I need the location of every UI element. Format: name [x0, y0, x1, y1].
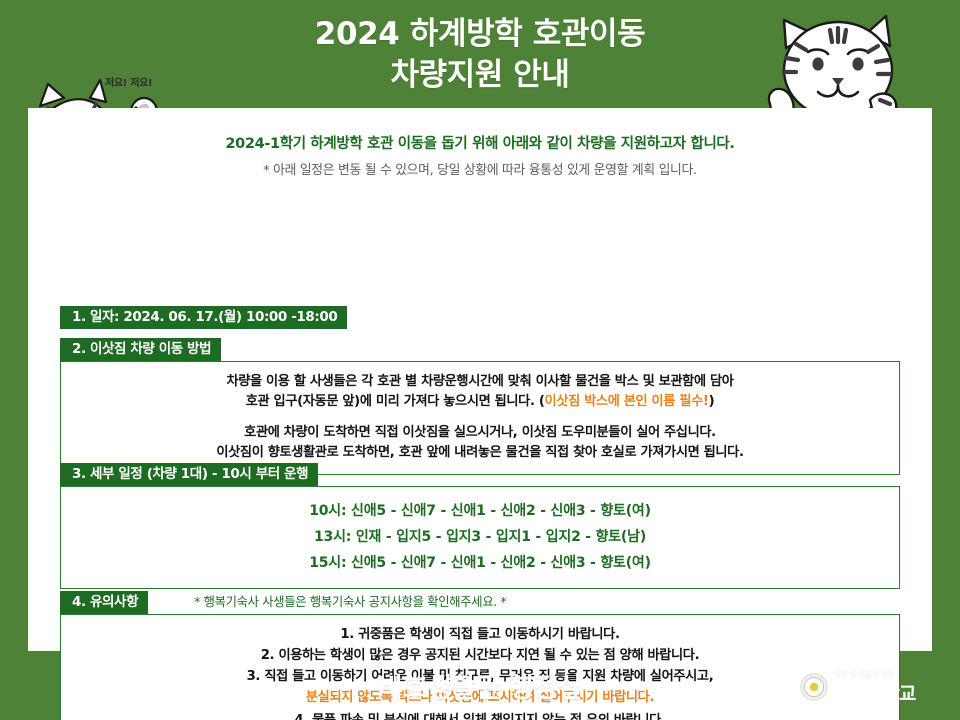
move-method-p1-line1: 차량을 이용 할 사생들은 각 호관 별 차량운행시간에 맞춰 이사할 물건을 …	[61, 372, 899, 392]
poster-card: 2024-1학기 하계방학 호관 이동을 돕기 위해 아래와 같이 차량을 지원…	[28, 108, 932, 651]
section-precautions-head-row: 4. 유의사항* 행복기숙사 사생들은 행복기숙사 공지사항을 확인해주세요. …	[60, 591, 900, 614]
mascot-speech-bubble: 저요! 저요!	[105, 74, 152, 89]
schedule-route-2: 13시: 인재 - 입지5 - 입지3 - 입지1 - 입지2 - 향토(남)	[61, 524, 899, 550]
section-move-method-heading: 2. 이삿짐 차량 이동 방법	[60, 338, 221, 361]
move-method-p1-line2-post: )	[709, 394, 715, 409]
section-schedule-head-row: 3. 세부 일정 (차량 1대) - 10시 부터 운행	[60, 463, 900, 486]
schedule-route-3: 15시: 신애5 - 신애7 - 신애1 - 신애2 - 신애3 - 향토(여)	[61, 550, 899, 576]
intro-main-text: 2024-1학기 하계방학 호관 이동을 돕기 위해 아래와 같이 차량을 지원…	[28, 134, 932, 154]
move-method-p1-accent: 이삿짐 박스에 본인 이름 필수!	[545, 394, 709, 409]
logo-university-name: 대구대학교	[833, 679, 915, 706]
section-move-method-body: 차량을 이용 할 사생들은 각 호관 별 차량운행시간에 맞춰 이사할 물건을 …	[60, 361, 900, 475]
section-precautions-aside-note: * 행복기숙사 사생들은 행복기숙사 공지사항을 확인해주세요. *	[148, 591, 506, 614]
intro-note-text: * 아래 일정은 변동 될 수 있으며, 당일 상황에 따라 융통성 있게 운영…	[28, 162, 932, 180]
section-date-head-row: 1. 일자: 2024. 06. 17.(월) 10:00 -18:00	[60, 306, 900, 329]
section-date-heading: 1. 일자: 2024. 06. 17.(월) 10:00 -18:00	[60, 306, 347, 329]
schedule-route-1: 10시: 신애5 - 신애7 - 신애1 - 신애2 - 신애3 - 향토(여)	[61, 498, 899, 524]
poster-footer: 비호생활관 행정실 사랑·빛·자유의 전당 대구대학교	[0, 651, 960, 720]
section-precautions-heading: 4. 유의사항	[60, 591, 148, 614]
poster-root: 2024 하계방학 호관이동 차량지원 안내 저요	[0, 0, 960, 720]
section-schedule-heading: 3. 세부 일정 (차량 1대) - 10시 부터 운행	[60, 463, 318, 486]
move-method-p2-line1: 호관에 차량이 도착하면 직접 이삿짐을 실으시거나, 이삿짐 도우미분들이 실…	[61, 423, 899, 443]
daegu-university-emblem-icon	[800, 673, 828, 701]
section-move-method: 2. 이삿짐 차량 이동 방법 차량을 이용 할 사생들은 각 호관 별 차량운…	[60, 338, 900, 475]
university-logo: 사랑·빛·자유의 전당 대구대학교	[800, 669, 952, 705]
precaution-item-1: 1. 귀중품은 학생이 직접 들고 이동하시기 바랍니다.	[61, 624, 899, 645]
intro-block: 2024-1학기 하계방학 호관 이동을 돕기 위해 아래와 같이 차량을 지원…	[28, 134, 932, 180]
section-schedule-body: 10시: 신애5 - 신애7 - 신애1 - 신애2 - 신애3 - 향토(여)…	[60, 486, 900, 589]
move-method-p1-line2-pre: 호관 입구(자동문 앞)에 미리 가져다 놓으시면 됩니다. (	[246, 394, 545, 409]
move-method-paragraph-2: 호관에 차량이 도착하면 직접 이삿짐을 실으시거나, 이삿짐 도우미분들이 실…	[61, 423, 899, 463]
move-method-paragraph-1: 차량을 이용 할 사생들은 각 호관 별 차량운행시간에 맞춰 이사할 물건을 …	[61, 372, 899, 412]
section-date: 1. 일자: 2024. 06. 17.(월) 10:00 -18:00	[60, 306, 900, 329]
section-move-method-head-row: 2. 이삿짐 차량 이동 방법	[60, 338, 900, 361]
section-schedule: 3. 세부 일정 (차량 1대) - 10시 부터 운행 10시: 신애5 - …	[60, 463, 900, 589]
move-method-p2-line2: 이삿짐이 향토생활관로 도착하면, 호관 앞에 내려놓은 물건을 직접 찾아 호…	[61, 443, 899, 463]
move-method-p1-line2: 호관 입구(자동문 앞)에 미리 가져다 놓으시면 됩니다. (이삿짐 박스에 …	[61, 392, 899, 412]
